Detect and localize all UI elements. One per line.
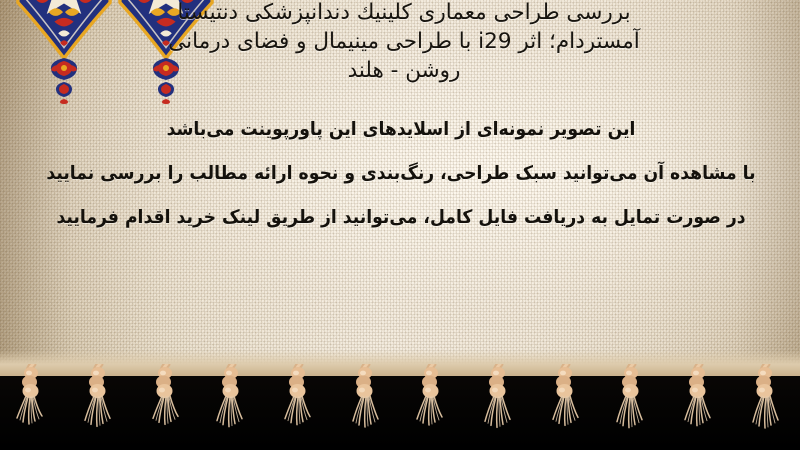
tassel-icon — [612, 364, 654, 444]
title-line-2: آمستردام؛ اثر i29 با طراحی مینیمال و فضا… — [24, 27, 784, 56]
tassel-icon — [12, 364, 54, 444]
tassel-icon — [346, 364, 388, 444]
tassel-icon — [412, 364, 454, 444]
body-line-2: با مشاهده آن می‌توانید سبک طراحی، رنگ‌بن… — [43, 152, 759, 196]
slide-body-text: این تصویر نمونه‌ای از اسلایدهای این پاور… — [16, 108, 786, 240]
tassel-icon — [679, 364, 721, 444]
body-line-3: در صورت تمایل به دریافت فایل کامل، می‌تو… — [43, 196, 759, 240]
tassel-icon — [79, 364, 121, 444]
title-line-1: بررسی طراحی معماری کلینیك دندانپزشکی دنت… — [24, 0, 784, 27]
slide-title: بررسی طراحی معماری کلینیك دندانپزشکی دنت… — [24, 0, 784, 85]
slide-canvas: بررسی طراحی معماری کلینیك دندانپزشکی دنت… — [0, 0, 800, 450]
tassel-icon — [746, 364, 788, 444]
tassel-icon — [479, 364, 521, 444]
tassel-icon — [546, 364, 588, 444]
tassel-icon — [212, 364, 254, 444]
body-line-1: این تصویر نمونه‌ای از اسلایدهای این پاور… — [43, 108, 759, 152]
carpet-fringe-tassels — [0, 358, 800, 444]
tassel-icon — [146, 364, 188, 444]
tassel-icon — [279, 364, 321, 444]
title-line-3: روشن - هلند — [24, 56, 784, 85]
